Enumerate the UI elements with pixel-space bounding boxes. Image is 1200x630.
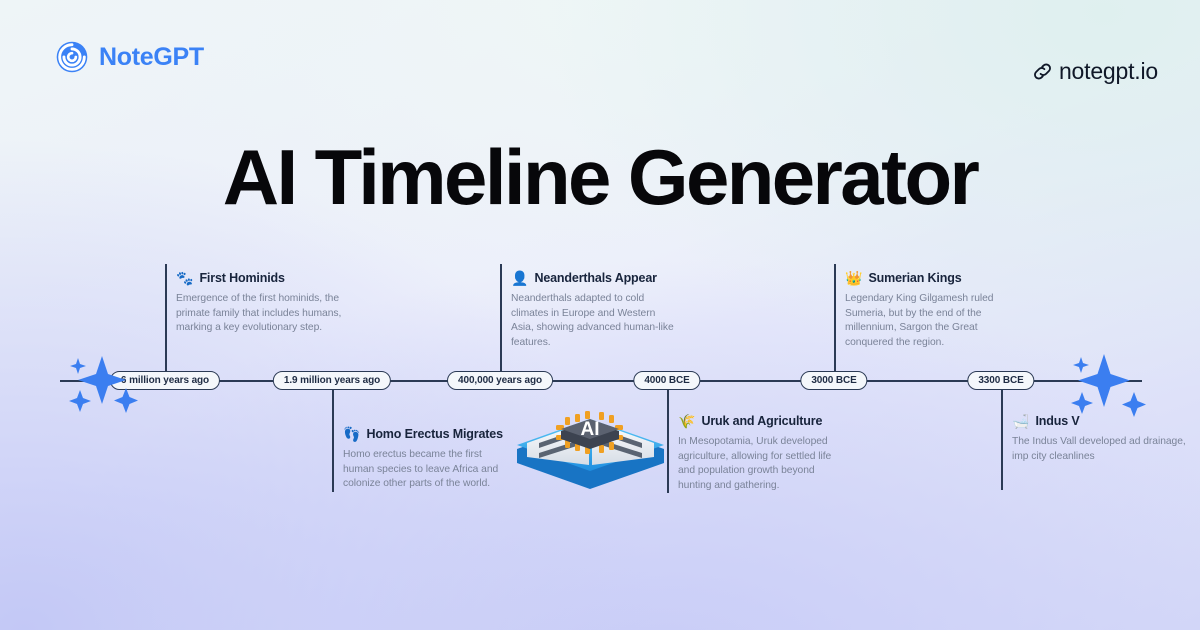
site-url-text: notegpt.io bbox=[1059, 58, 1158, 85]
event-description: In Mesopotamia, Uruk developed agricultu… bbox=[678, 435, 839, 493]
event-header: 👣 Homo Erectus Migrates bbox=[343, 427, 504, 441]
event-description: Neanderthals adapted to cold climates in… bbox=[511, 292, 678, 350]
paw-print-icon: 🐾 bbox=[176, 271, 193, 285]
brand-name: NoteGPT bbox=[99, 43, 204, 72]
event-title: Uruk and Agriculture bbox=[701, 414, 822, 428]
timeline-marker[interactable]: 1.9 million years ago bbox=[273, 371, 391, 390]
bust-in-silhouette-icon: 👤 bbox=[511, 271, 528, 285]
footprints-icon: 👣 bbox=[343, 427, 360, 441]
page-title: AI Timeline Generator bbox=[0, 137, 1200, 219]
brand-logo[interactable]: NoteGPT bbox=[55, 40, 204, 74]
event-title: First Hominids bbox=[199, 271, 284, 285]
timeline-event-card[interactable]: 🐾 First Hominids Emergence of the first … bbox=[165, 271, 343, 336]
site-url[interactable]: notegpt.io bbox=[1031, 58, 1158, 85]
sparkle-icon bbox=[1062, 348, 1158, 422]
event-description: Legendary King Gilgamesh ruled Sumeria, … bbox=[845, 292, 1012, 350]
event-title: Homo Erectus Migrates bbox=[366, 427, 502, 441]
bathtub-icon: 🛁 bbox=[1012, 414, 1029, 428]
timeline-event-card[interactable]: 👑 Sumerian Kings Legendary King Gilgames… bbox=[834, 271, 1012, 350]
event-header: 👑 Sumerian Kings bbox=[845, 271, 1012, 285]
event-header: 👤 Neanderthals Appear bbox=[511, 271, 678, 285]
event-title: Neanderthals Appear bbox=[534, 271, 656, 285]
timeline-marker[interactable]: 3300 BCE bbox=[967, 371, 1034, 390]
event-description: Homo erectus became the first human spec… bbox=[343, 448, 504, 492]
timeline-event-card[interactable]: 👤 Neanderthals Appear Neanderthals adapt… bbox=[500, 271, 678, 350]
event-title: Sumerian Kings bbox=[868, 271, 961, 285]
event-description: Emergence of the first hominids, the pri… bbox=[176, 292, 343, 336]
timeline-event-card[interactable]: 🌾 Uruk and Agriculture In Mesopotamia, U… bbox=[667, 414, 839, 493]
ai-book-icon: AI bbox=[503, 383, 678, 505]
crown-icon: 👑 bbox=[845, 271, 862, 285]
event-description: The Indus Vall developed ad drainage, im… bbox=[1012, 435, 1200, 464]
link-icon bbox=[1031, 60, 1054, 83]
timeline-event-card[interactable]: 👣 Homo Erectus Migrates Homo erectus bec… bbox=[332, 427, 504, 492]
timeline-marker[interactable]: 3000 BCE bbox=[800, 371, 867, 390]
event-header: 🐾 First Hominids bbox=[176, 271, 343, 285]
event-header: 🌾 Uruk and Agriculture bbox=[678, 414, 839, 428]
spiral-icon bbox=[55, 40, 89, 74]
sheaf-of-rice-icon: 🌾 bbox=[678, 414, 695, 428]
sparkle-icon bbox=[56, 348, 148, 420]
svg-text:AI: AI bbox=[581, 419, 600, 440]
